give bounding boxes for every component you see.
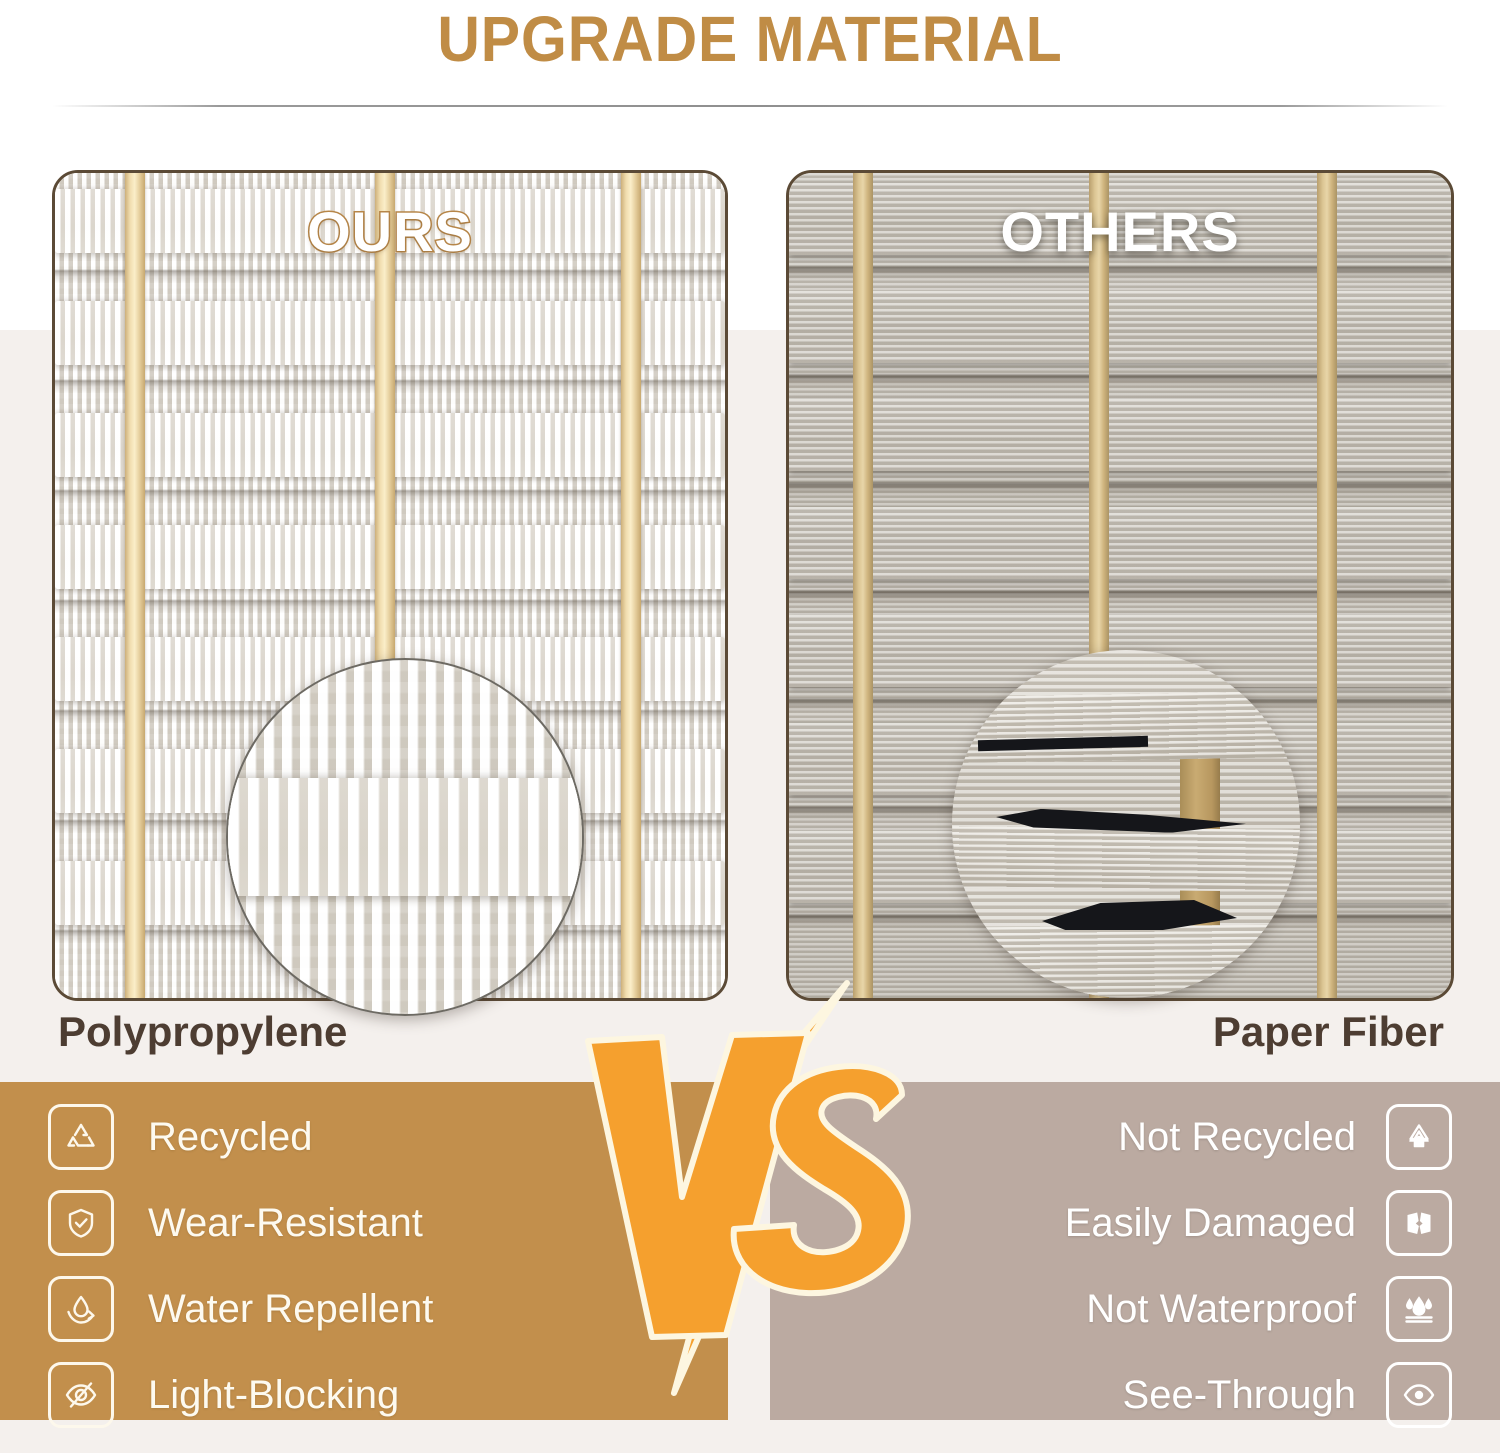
feature-row-wear-resistant: Wear-Resistant [48,1190,423,1256]
right-material-name: Paper Fiber [1213,1008,1444,1056]
feature-label: Recycled [148,1115,313,1160]
frayed-paper-strip [952,691,1300,763]
ours-tag: OURS [55,199,725,264]
shield-check-icon [48,1190,114,1256]
feature-row-light-blocking: Light-Blocking [48,1362,399,1428]
feature-label: Wear-Resistant [148,1201,423,1246]
feature-label: Not Recycled [1118,1115,1356,1160]
bamboo-dowel [853,173,873,998]
feature-row-see-through: See-Through [1123,1362,1452,1428]
feature-row-not-recycled: Not Recycled [1118,1104,1452,1170]
feature-row-not-waterproof: Not Waterproof [1086,1276,1452,1342]
water-repellent-icon [48,1276,114,1342]
bamboo-dowel [125,173,145,998]
feature-label: Not Waterproof [1086,1287,1356,1332]
paper-strap [789,291,1451,363]
feature-row-water-repellent: Water Repellent [48,1276,433,1342]
recycle-tree-icon [1386,1104,1452,1170]
infographic-canvas: UPGRADE MATERIAL OURS OTHERS [0,0,1500,1453]
eye-off-icon [48,1362,114,1428]
others-tag: OTHERS [789,199,1451,264]
others-feature-banner: Not Recycled Easily Damaged [770,1082,1500,1420]
water-droplets-icon [1386,1276,1452,1342]
feature-label: Water Repellent [148,1287,433,1332]
frayed-paper-strip [952,924,1300,997]
others-magnifier-circle [952,650,1300,998]
header-divider-rule [52,105,1448,107]
bamboo-dowel [1317,173,1337,998]
bamboo-dowel [621,173,641,998]
paper-strap [789,507,1451,579]
recycle-icon [48,1104,114,1170]
eye-icon [1386,1362,1452,1428]
feature-label: Easily Damaged [1065,1201,1356,1246]
paper-strap [789,399,1451,471]
left-material-name: Polypropylene [58,1008,347,1056]
feature-row-easily-damaged: Easily Damaged [1065,1190,1452,1256]
feature-label: Light-Blocking [148,1373,399,1418]
ours-magnifier-circle [226,658,584,1016]
feature-row-recycled: Recycled [48,1104,313,1170]
magnified-bamboo-dowel [392,660,426,1014]
feature-label: See-Through [1123,1373,1356,1418]
frayed-paper-strip [952,826,1300,892]
ours-feature-banner: Recycled Wear-Resistant Water Repellent [0,1082,728,1420]
page-title: UPGRADE MATERIAL [60,2,1440,76]
torn-paper-icon [1386,1190,1452,1256]
